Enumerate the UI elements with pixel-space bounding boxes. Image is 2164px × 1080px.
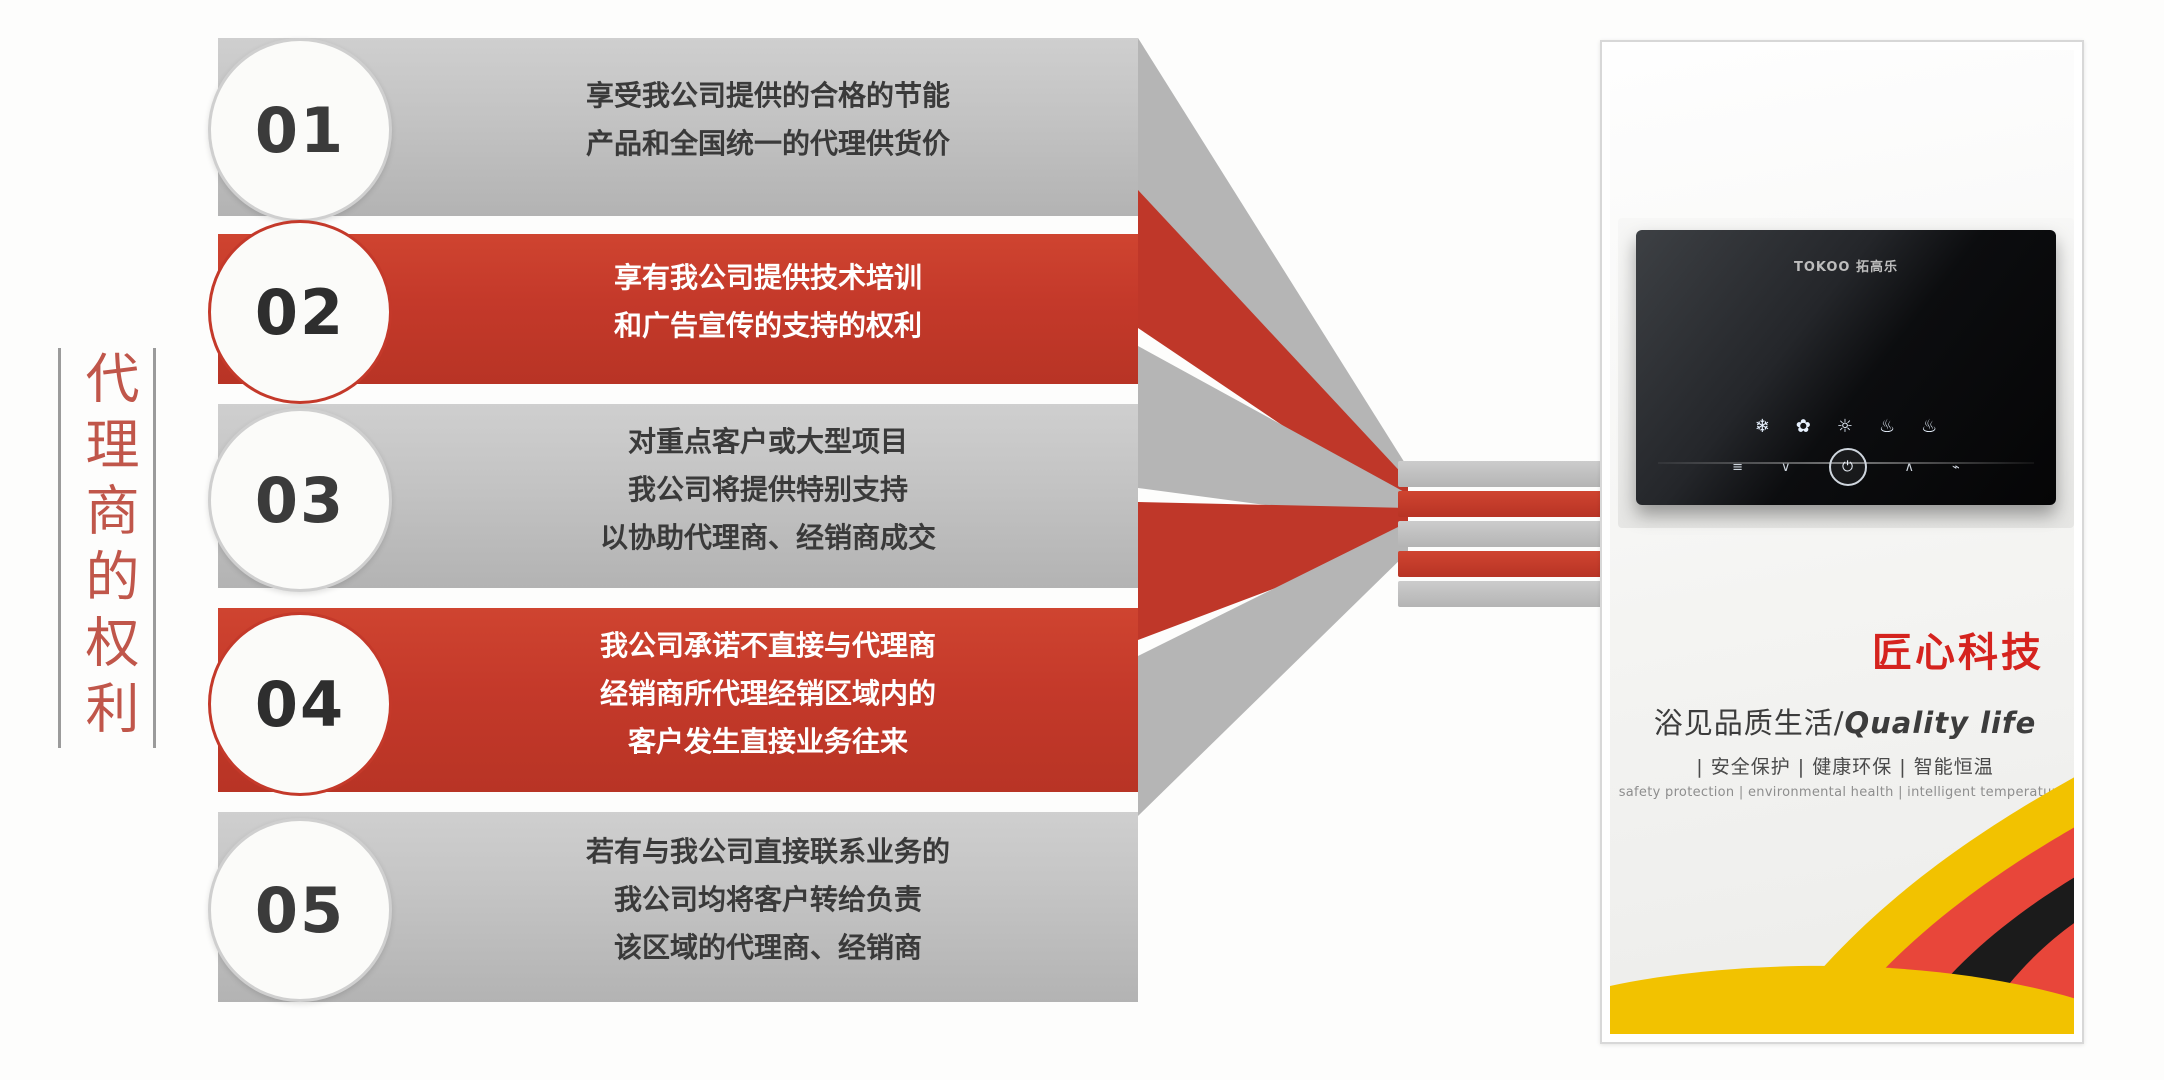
row-2-number: 02 <box>208 220 392 404</box>
chevron-down-icon[interactable]: ∨ <box>1781 460 1791 475</box>
throat-bar-red-1 <box>1398 491 1613 517</box>
row-2-line-1: 享有我公司提供技术培训 <box>468 254 1068 302</box>
steam-icon-1: ♨ <box>1879 416 1895 437</box>
sun-icon: ☼ <box>1837 416 1853 437</box>
row-1-line-1: 享受我公司提供的合格的节能 <box>468 72 1068 120</box>
right-row-4[interactable]: 04 我公司承诺不直接与代理商 经销商所代理经销区域内的 客户发生直接业务往来 <box>218 608 1138 792</box>
row-3-line-1: 对重点客户或大型项目 <box>468 418 1068 466</box>
chevron-up-icon[interactable]: ∧ <box>1905 460 1915 475</box>
throat-bar-grey-2 <box>1398 521 1613 547</box>
throat-bar-grey-3 <box>1398 581 1613 607</box>
vertical-title-text: 代理商的权利 <box>80 350 134 746</box>
flower-icon: ✿ <box>1796 416 1811 437</box>
decorative-ribbon <box>1610 754 2074 1034</box>
vertical-section-title: 代理商的权利 <box>52 348 162 748</box>
row-4-line-3: 客户发生直接业务往来 <box>468 718 1068 766</box>
right-row-2[interactable]: 02 享有我公司提供技术培训 和广告宣传的支持的权利 <box>218 234 1138 384</box>
row-3-text: 对重点客户或大型项目 我公司将提供特别支持 以协助代理商、经销商成交 <box>468 418 1068 562</box>
bolt-icon[interactable]: ⌁ <box>1952 460 1960 475</box>
row-1-text: 享受我公司提供的合格的节能 产品和全国统一的代理供货价 <box>468 72 1068 168</box>
row-2-text: 享有我公司提供技术培训 和广告宣传的支持的权利 <box>468 254 1068 350</box>
row-5-line-2: 我公司均将客户转给负责 <box>468 876 1068 924</box>
row-5-number: 05 <box>208 818 392 1002</box>
throat-bar-red-2 <box>1398 551 1613 577</box>
device-brand-label: TOKOO 拓高乐 <box>1636 256 2056 275</box>
row-3-line-3: 以协助代理商、经销商成交 <box>468 514 1068 562</box>
power-button-icon[interactable]: ⏻ <box>1829 448 1867 486</box>
row-3-number: 03 <box>208 408 392 592</box>
throat-bar-grey-1 <box>1398 461 1613 487</box>
slogan-sub-en: Quality life <box>1845 706 2037 740</box>
row-5-text: 若有与我公司直接联系业务的 我公司均将客户转给负责 该区域的代理商、经销商 <box>468 828 1068 972</box>
row-4-line-1: 我公司承诺不直接与代理商 <box>468 622 1068 670</box>
title-rule-right <box>153 348 156 748</box>
row-4-text: 我公司承诺不直接与代理商 经销商所代理经销区域内的 客户发生直接业务往来 <box>468 622 1068 766</box>
row-3-line-2: 我公司将提供特别支持 <box>468 466 1068 514</box>
slogan-sub-cn: 浴见品质生活/ <box>1654 706 1845 740</box>
rights-funnel: 01 享受我公司提供的合格的节能 产品和全国统一的代理供货价 02 享有我公司提… <box>218 28 1408 1058</box>
row-5-line-1: 若有与我公司直接联系业务的 <box>468 828 1068 876</box>
product-card[interactable]: TOKOO 拓高乐 ❄ ✿ ☼ ♨ ♨ ≡ ∨ ⏻ ∧ ⌁ 匠心科技 <box>1600 40 2084 1044</box>
right-row-1[interactable]: 01 享受我公司提供的合格的节能 产品和全国统一的代理供货价 <box>218 38 1138 216</box>
brand-slogan-sub: 浴见品质生活/Quality life <box>1630 700 2060 742</box>
row-5-line-3: 该区域的代理商、经销商 <box>468 924 1068 972</box>
steam-icon-2: ♨ <box>1921 416 1937 437</box>
row-1-line-2: 产品和全国统一的代理供货价 <box>468 120 1068 168</box>
poster-canvas: 代理商的权利 01 享受我公司提供的合格的节能 产品和全国统一的代理供货价 <box>0 0 2164 1080</box>
right-row-3[interactable]: 03 对重点客户或大型项目 我公司将提供特别支持 以协助代理商、经销商成交 <box>218 404 1138 588</box>
water-heater-device: TOKOO 拓高乐 ❄ ✿ ☼ ♨ ♨ ≡ ∨ ⏻ ∧ ⌁ <box>1636 230 2056 505</box>
funnel-throat <box>1398 455 1613 635</box>
row-1-number: 01 <box>208 38 392 222</box>
row-4-number: 04 <box>208 612 392 796</box>
ribbon-shapes <box>1610 754 2074 1034</box>
row-4-line-2: 经销商所代理经销区域内的 <box>468 670 1068 718</box>
device-control-row[interactable]: ≡ ∨ ⏻ ∧ ⌁ <box>1636 448 2056 486</box>
device-display-icons: ❄ ✿ ☼ ♨ ♨ <box>1636 416 2056 437</box>
product-card-inner: TOKOO 拓高乐 ❄ ✿ ☼ ♨ ♨ ≡ ∨ ⏻ ∧ ⌁ 匠心科技 <box>1610 50 2074 1034</box>
menu-icon[interactable]: ≡ <box>1732 460 1743 475</box>
brand-slogan-main: 匠心科技 <box>1610 620 2044 678</box>
row-2-line-2: 和广告宣传的支持的权利 <box>468 302 1068 350</box>
snowflake-icon: ❄ <box>1755 416 1770 437</box>
right-row-5[interactable]: 05 若有与我公司直接联系业务的 我公司均将客户转给负责 该区域的代理商、经销商 <box>218 812 1138 1002</box>
title-rule-left <box>58 348 61 748</box>
